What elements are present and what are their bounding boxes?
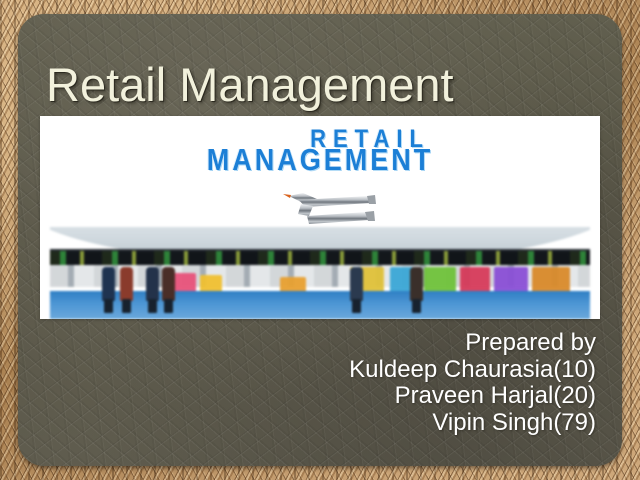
store-interior-photo xyxy=(50,227,590,319)
page-title: Retail Management xyxy=(46,58,594,112)
credits-heading: Prepared by xyxy=(176,330,596,357)
credits-block: Prepared by Kuldeep Chaurasia(10) Pravee… xyxy=(176,330,596,436)
credits-member: Kuldeep Chaurasia(10) xyxy=(176,357,596,384)
slide-content-panel: Retail Management RETAIL MANAGEMENT xyxy=(18,14,622,466)
metallic-bird-logo-icon xyxy=(283,190,379,230)
cover-headline-line2: MANAGEMENT xyxy=(40,143,600,178)
presentation-slide: Retail Management RETAIL MANAGEMENT xyxy=(0,0,640,480)
book-cover-image: RETAIL MANAGEMENT xyxy=(40,116,600,319)
credits-member: Vipin Singh(79) xyxy=(176,410,596,437)
credits-member: Praveen Harjal(20) xyxy=(176,383,596,410)
